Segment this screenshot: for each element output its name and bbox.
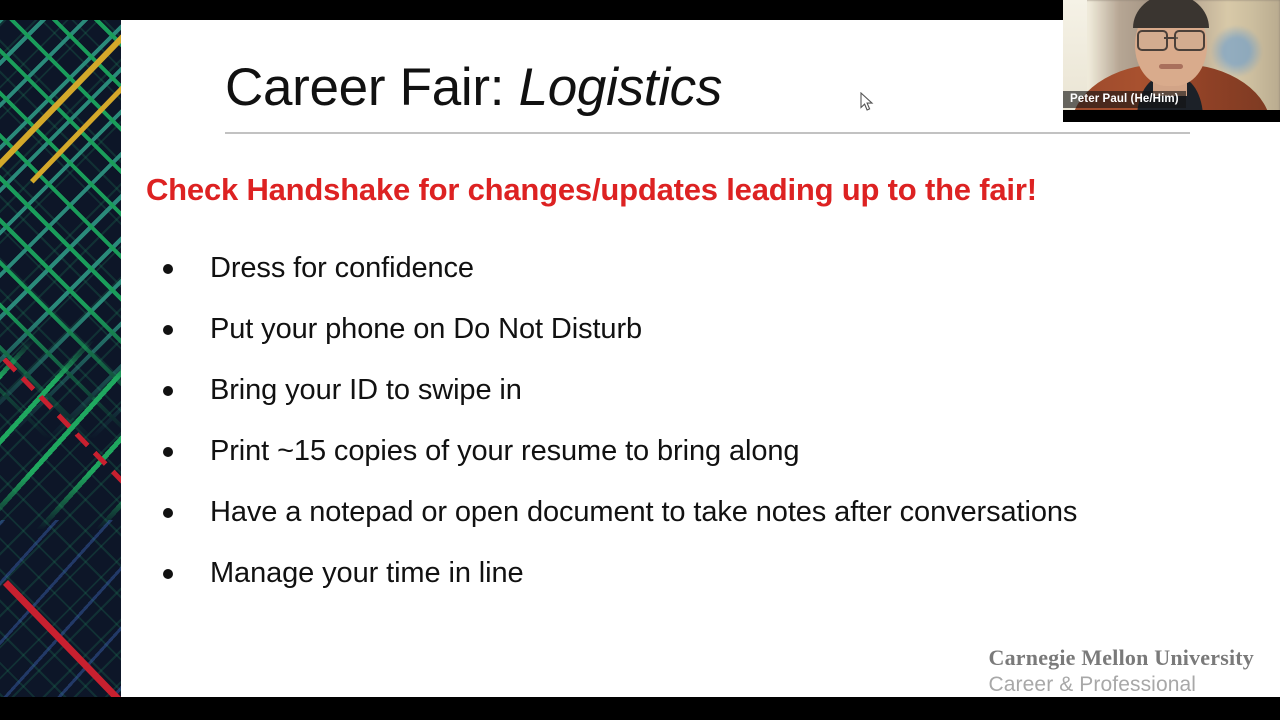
logo-university-name: Carnegie Mellon University [989,645,1254,671]
video-tile-bottom-bar [1063,110,1280,122]
bullet-dot-icon [163,447,173,457]
list-item-label: Print ~15 copies of your resume to bring… [210,435,799,467]
slide-subtitle-callout: Check Handshake for changes/updates lead… [146,172,1037,208]
tartan-green-stripes-lower [0,340,121,530]
presenter-video-tile[interactable]: Peter Paul (He/Him) [1063,0,1280,122]
list-item: Dress for confidence [155,238,1195,299]
slide-title-emphasis: Logistics [519,58,723,117]
bullet-dot-icon [163,325,173,335]
tartan-decoration-band [0,20,121,697]
slide-bullet-list: Dress for confidence Put your phone on D… [155,238,1195,604]
list-item: Print ~15 copies of your resume to bring… [155,421,1195,482]
bullet-dot-icon [163,508,173,518]
logo-unit-name: Career & Professional [989,673,1254,697]
list-item: Put your phone on Do Not Disturb [155,299,1195,360]
list-item-label: Have a notepad or open document to take … [210,496,1077,528]
slide-title-block: Career Fair: Logistics [225,60,1190,134]
tartan-blue-threads [0,520,121,697]
video-presentation-screen: Career Fair: Logistics Check Handshake f… [0,0,1280,720]
page-title: Career Fair: Logistics [225,60,1190,116]
slide-title-main: Career Fair: [225,58,519,117]
list-item-label: Bring your ID to swipe in [210,374,522,406]
bullet-dot-icon [163,264,173,274]
carnegie-mellon-logo: Carnegie Mellon University Career & Prof… [989,645,1254,697]
bullet-dot-icon [163,569,173,579]
glasses-lens-right [1174,30,1205,51]
presenter-mouth [1159,64,1183,69]
bullet-dot-icon [163,386,173,396]
list-item: Have a notepad or open document to take … [155,482,1195,543]
eyeglasses-icon [1137,30,1205,47]
presenter-hair [1133,0,1209,28]
title-divider [225,132,1190,134]
list-item-label: Manage your time in line [210,557,524,589]
glasses-lens-left [1137,30,1168,51]
list-item: Manage your time in line [155,543,1195,604]
participant-name-label: Peter Paul (He/Him) [1063,91,1186,108]
list-item: Bring your ID to swipe in [155,360,1195,421]
list-item-label: Dress for confidence [210,252,474,284]
list-item-label: Put your phone on Do Not Disturb [210,313,642,345]
letterbox-bar-bottom [0,697,1280,720]
